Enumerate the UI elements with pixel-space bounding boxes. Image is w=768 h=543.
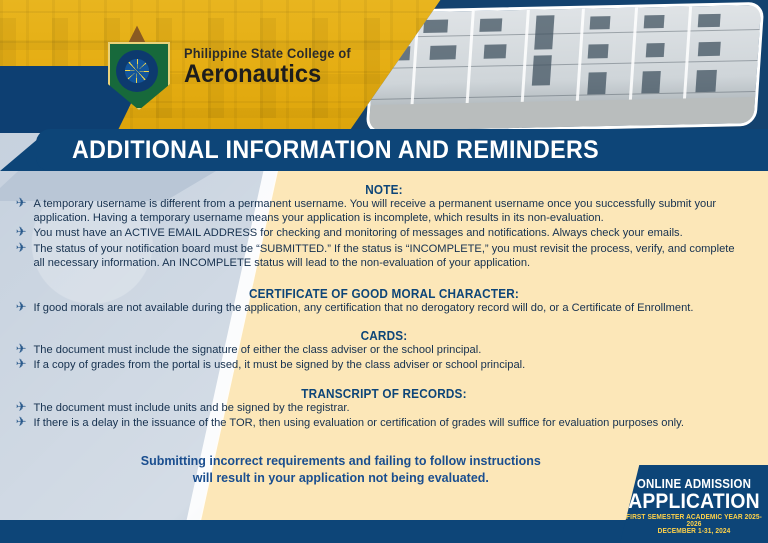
closing-line-1: Submitting incorrect requirements and fa… [54, 452, 628, 469]
badge-line-2: APPLICATION [626, 491, 762, 512]
list-item: ✈The document must include the signature… [0, 343, 756, 357]
airplane-bullet-icon: ✈ [16, 400, 27, 414]
airplane-bullet-icon: ✈ [16, 415, 27, 429]
list-item: ✈The status of your notification board m… [0, 242, 756, 270]
airplane-bullet-icon: ✈ [16, 300, 27, 314]
list-item-text: If there is a delay in the issuance of t… [33, 417, 684, 429]
bullet-list-tor: ✈The document must include units and be … [0, 401, 768, 430]
list-item: ✈If a copy of grades from the portal is … [0, 358, 756, 372]
section-heading-good-moral: CERTIFICATE OF GOOD MORAL CHARACTER: [23, 287, 745, 301]
badge-line-1: ONLINE ADMISSION [626, 477, 762, 491]
airplane-bullet-icon: ✈ [16, 241, 27, 255]
bullet-list-note: ✈A temporary username is different from … [0, 197, 768, 270]
bullet-list-cards: ✈The document must include the signature… [0, 343, 768, 372]
list-item: ✈A temporary username is different from … [0, 197, 756, 225]
list-item: ✈If good morals are not available during… [0, 301, 756, 315]
section-heading-cards: CARDS: [23, 329, 745, 343]
airplane-bullet-icon: ✈ [16, 225, 27, 239]
logo-line-2: Aeronautics [184, 61, 351, 88]
list-item: ✈You must have an ACTIVE EMAIL ADDRESS f… [0, 226, 756, 240]
logo-line-1: Philippine State College of [184, 46, 351, 61]
list-item-text: The status of your notification board mu… [33, 243, 734, 269]
closing-line-2: will result in your application not bein… [54, 469, 628, 486]
section-heading-note: NOTE: [23, 171, 745, 197]
airplane-bullet-icon: ✈ [16, 196, 27, 210]
page-title: ADDITIONAL INFORMATION AND REMINDERS [72, 136, 599, 165]
badge-line-4: DECEMBER 1-31, 2024 [624, 528, 763, 535]
seal-icon [116, 50, 158, 92]
list-item-text: The document must include the signature … [33, 344, 481, 356]
section-heading-tor: TRANSCRIPT OF RECORDS: [23, 387, 745, 401]
list-item-text: The document must include units and be s… [33, 402, 349, 414]
bullet-list-good-moral: ✈If good morals are not available during… [0, 301, 768, 315]
list-item-text: If good morals are not available during … [33, 302, 693, 314]
poster-root: ▲ Philippine State College of Aeronautic… [0, 0, 768, 543]
psca-logo: ▲ [100, 14, 172, 114]
poster-header: ▲ Philippine State College of Aeronautic… [0, 0, 768, 133]
logo-wordmark: Philippine State College of Aeronautics [184, 46, 360, 88]
airplane-bullet-icon: ✈ [16, 357, 27, 371]
list-item-text: If a copy of grades from the portal is u… [33, 359, 525, 371]
online-admission-badge: ONLINE ADMISSION APPLICATION FIRST SEMES… [620, 465, 768, 543]
list-item: ✈If there is a delay in the issuance of … [0, 416, 756, 430]
list-item-text: A temporary username is different from a… [33, 198, 716, 224]
list-item-text: You must have an ACTIVE EMAIL ADDRESS fo… [33, 227, 682, 239]
badge-line-3: FIRST SEMESTER ACADEMIC YEAR 2025-2026 [624, 514, 763, 528]
airplane-bullet-icon: ✈ [16, 342, 27, 356]
list-item: ✈The document must include units and be … [0, 401, 756, 415]
